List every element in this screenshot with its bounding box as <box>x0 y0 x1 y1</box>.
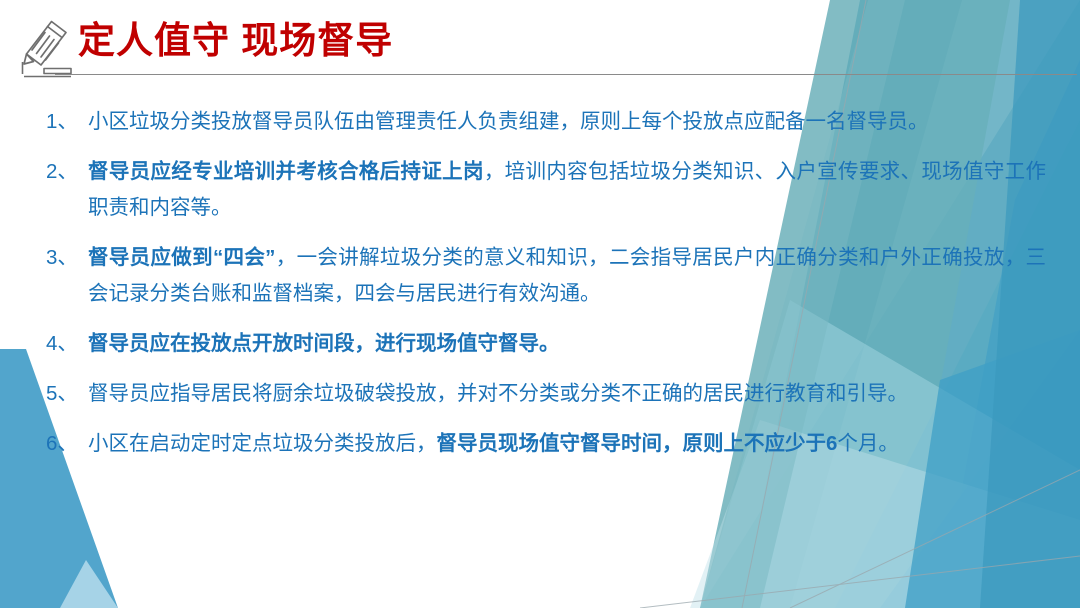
list-item: 6、 小区在启动定时定点垃圾分类投放后，督导员现场值守督导时间，原则上不应少于6… <box>46 426 1046 462</box>
pencil-icon <box>20 16 74 82</box>
list-item-text: 督导员应经专业培训并考核合格后持证上岗，培训内容包括垃圾分类知识、入户宣传要求、… <box>88 154 1046 226</box>
list-item: 5、 督导员应指导居民将厨余垃圾破袋投放，并对不分类或分类不正确的居民进行教育和… <box>46 376 1046 412</box>
list-item: 3、 督导员应做到“四会”，一会讲解垃圾分类的意义和知识，二会指导居民户内正确分… <box>46 240 1046 312</box>
list-item-number: 4、 <box>46 326 88 362</box>
list-item-segment-bold: 督导员应经专业培训并考核合格后持证上岗 <box>88 160 484 183</box>
list-item-number: 6、 <box>46 426 88 462</box>
content-list: 1、 小区垃圾分类投放督导员队伍由管理责任人负责组建，原则上每个投放点应配备一名… <box>46 104 1046 476</box>
list-item-segment: 小区垃圾分类投放督导员队伍由管理责任人负责组建，原则上每个投放点应配备一名督导员… <box>88 110 929 133</box>
list-item-number: 1、 <box>46 104 88 140</box>
list-item-segment-bold: 督导员应做到“四会” <box>88 246 275 269</box>
list-item-text: 小区垃圾分类投放督导员队伍由管理责任人负责组建，原则上每个投放点应配备一名督导员… <box>88 104 1046 140</box>
list-item-segment: 小区在启动定时定点垃圾分类投放后， <box>88 432 437 455</box>
list-item: 2、 督导员应经专业培训并考核合格后持证上岗，培训内容包括垃圾分类知识、入户宣传… <box>46 154 1046 226</box>
title-underline <box>55 74 1077 75</box>
list-item-number: 5、 <box>46 376 88 412</box>
page-title: 定人值守 现场督导 <box>78 21 393 62</box>
list-item-segment: 个月。 <box>837 432 899 455</box>
list-item: 4、 督导员应在投放点开放时间段，进行现场值守督导。 <box>46 326 1046 362</box>
slide-header: 定人值守 现场督导 <box>0 0 1080 92</box>
list-item-text: 督导员应在投放点开放时间段，进行现场值守督导。 <box>88 326 1046 362</box>
list-item-number: 2、 <box>46 154 88 190</box>
list-item-segment-bold: 督导员现场值守督导时间，原则上不应少于6 <box>437 432 838 455</box>
list-item-segment: 督导员应指导居民将厨余垃圾破袋投放，并对不分类或分类不正确的居民进行教育和引导。 <box>88 382 908 405</box>
list-item-segment-bold: 督导员应在投放点开放时间段，进行现场值守督导。 <box>88 332 560 355</box>
list-item-number: 3、 <box>46 240 88 276</box>
list-item-text: 督导员应指导居民将厨余垃圾破袋投放，并对不分类或分类不正确的居民进行教育和引导。 <box>88 376 1046 412</box>
list-item: 1、 小区垃圾分类投放督导员队伍由管理责任人负责组建，原则上每个投放点应配备一名… <box>46 104 1046 140</box>
list-item-text: 小区在启动定时定点垃圾分类投放后，督导员现场值守督导时间，原则上不应少于6个月。 <box>88 426 1046 462</box>
slide-canvas: 定人值守 现场督导 1、 小区垃圾分类投放督导员队伍由管理责任人负责组建，原则上… <box>0 0 1080 608</box>
list-item-text: 督导员应做到“四会”，一会讲解垃圾分类的意义和知识，二会指导居民户内正确分类和户… <box>88 240 1046 312</box>
